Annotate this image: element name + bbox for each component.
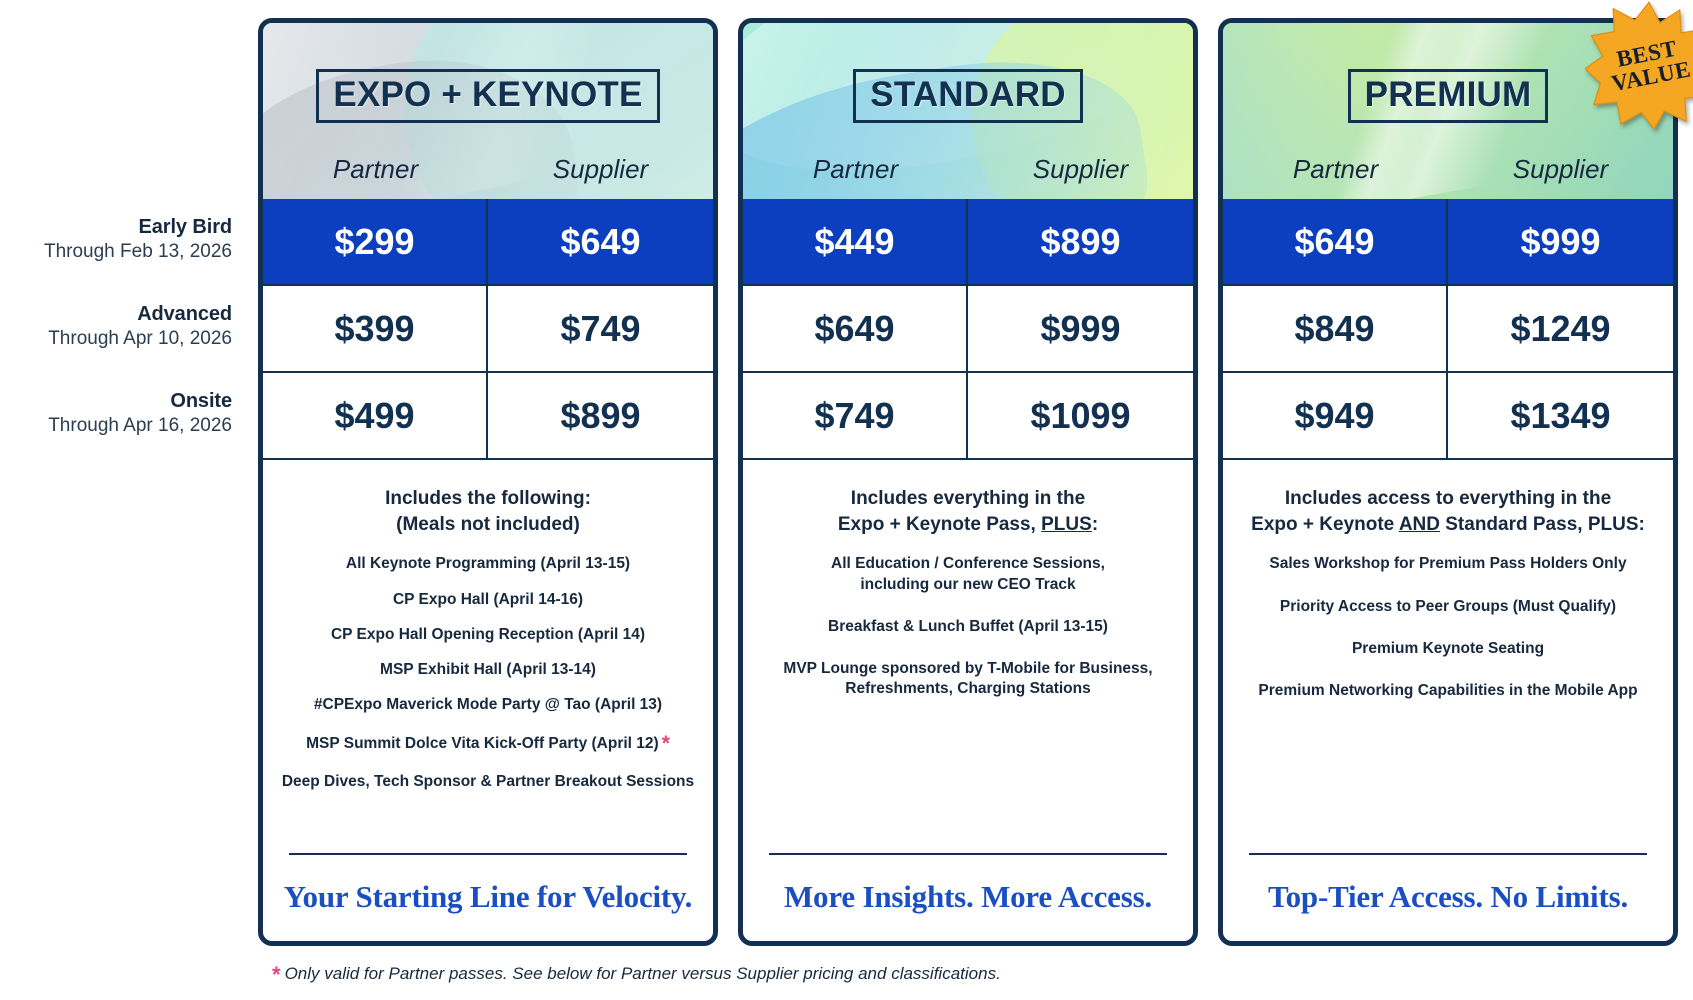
features-intro-pre: Expo + Keynote [1251,514,1399,535]
price-row-advanced: $399 $749 [263,286,713,373]
price-early-partner: $649 [1223,199,1448,284]
feature-item-starred: MSP Summit Dolce Vita Kick-Off Party (Ap… [281,730,695,757]
tier-title: EXPO + KEYNOTE [316,69,659,123]
feature-item: CP Expo Hall (April 14-16) [281,590,695,610]
feature-text: Priority Access to Peer Groups (Must Qua… [1280,598,1616,615]
feature-text: Deep Dives, Tech Sponsor & Partner Break… [282,773,694,790]
feature-item: Premium Keynote Seating [1241,639,1655,659]
price-row-advanced: $849 $1249 [1223,286,1673,373]
feature-text: All Keynote Programming (April 13-15) [346,555,630,572]
price-onsite-supplier: $1349 [1448,373,1673,458]
price-row-advanced: $649 $999 [743,286,1193,373]
price-advanced-supplier: $999 [968,286,1193,371]
feature-text: Sales Workshop for Premium Pass Holders … [1269,555,1626,572]
row-label-sub: Through Feb 13, 2026 [44,240,232,265]
row-label-name: Early Bird [139,215,232,240]
audience-partner-label: Partner [1223,154,1448,185]
feature-text: Premium Networking Capabilities in the M… [1258,682,1637,699]
audience-partner-label: Partner [743,154,968,185]
row-label-sub: Through Apr 10, 2026 [48,327,232,352]
feature-text: MSP Summit Dolce Vita Kick-Off Party (Ap… [306,735,659,752]
feature-item: Deep Dives, Tech Sponsor & Partner Break… [281,772,695,792]
row-label-name: Advanced [137,302,232,327]
card-tagline: Top-Tier Access. No Limits. [1241,855,1655,921]
pricing-card-expo-keynote[interactable]: EXPO + KEYNOTE Partner Supplier $299 $64… [258,18,718,946]
body-spacer [761,721,1175,853]
feature-item: Priority Access to Peer Groups (Must Qua… [1241,597,1655,617]
card-body-expo-keynote: Includes the following: (Meals not inclu… [263,460,713,941]
row-label-column: Early Bird Through Feb 13, 2026 Advanced… [0,196,250,457]
features-intro: Includes everything in the Expo + Keynot… [761,486,1175,538]
audience-header-row: Partner Supplier [743,154,1193,185]
features-intro-line2: (Meals not included) [396,514,580,535]
feature-item: MSP Exhibit Hall (April 13-14) [281,660,695,680]
features-intro-post: : [1092,514,1098,535]
body-spacer [281,808,695,853]
pricing-table-page: Early Bird Through Feb 13, 2026 Advanced… [0,0,1693,1000]
card-tagline: Your Starting Line for Velocity. [281,855,695,921]
price-onsite-partner: $949 [1223,373,1448,458]
price-early-partner: $299 [263,199,488,284]
feature-text: CP Expo Hall (April 14-16) [393,591,583,608]
price-onsite-partner: $749 [743,373,968,458]
feature-list: All Keynote Programming (April 13-15) CP… [281,554,695,807]
feature-item: Premium Networking Capabilities in the M… [1241,681,1655,701]
price-advanced-partner: $849 [1223,286,1448,371]
feature-item: All Education / Conference Sessions,incl… [761,554,1175,594]
price-advanced-supplier: $749 [488,286,713,371]
audience-supplier-label: Supplier [488,154,713,185]
feature-text: Breakfast & Lunch Buffet (April 13-15) [828,618,1108,635]
row-label-name: Onsite [170,389,232,414]
price-advanced-partner: $399 [263,286,488,371]
price-early-supplier: $999 [1448,199,1673,284]
price-onsite-supplier: $1099 [968,373,1193,458]
pricing-card-standard[interactable]: STANDARD Partner Supplier $449 $899 $649… [738,18,1198,946]
card-tagline: More Insights. More Access. [761,855,1175,921]
feature-list: Sales Workshop for Premium Pass Holders … [1241,554,1655,723]
best-value-starburst-icon: BEST VALUE [1585,1,1693,129]
features-intro-underlined: AND [1399,514,1440,535]
asterisk-marker: * [662,732,670,755]
pricing-card-premium[interactable]: PREMIUM Partner Supplier $649 $999 $849 … [1218,18,1678,946]
features-intro-underlined: PLUS [1041,514,1092,535]
features-intro-line1: Includes the following: [385,488,591,509]
starburst-shape [1585,2,1693,129]
feature-item: Breakfast & Lunch Buffet (April 13-15) [761,617,1175,637]
feature-text: Premium Keynote Seating [1352,640,1544,657]
card-body-standard: Includes everything in the Expo + Keynot… [743,460,1193,941]
row-label-onsite: Onsite Through Apr 16, 2026 [0,370,250,457]
price-early-supplier: $649 [488,199,713,284]
body-spacer [1241,723,1655,853]
feature-item: Sales Workshop for Premium Pass Holders … [1241,554,1655,574]
tier-title: PREMIUM [1348,69,1549,123]
pricing-card-row: EXPO + KEYNOTE Partner Supplier $299 $64… [258,18,1678,946]
feature-item: CP Expo Hall Opening Reception (April 14… [281,625,695,645]
feature-list: All Education / Conference Sessions,incl… [761,554,1175,721]
price-row-early-bird: $649 $999 [1223,199,1673,286]
features-intro-line1: Includes everything in the [851,488,1085,509]
price-early-supplier: $899 [968,199,1193,284]
row-label-advanced: Advanced Through Apr 10, 2026 [0,283,250,370]
card-header-expo-keynote: EXPO + KEYNOTE Partner Supplier [263,23,713,199]
audience-header-row: Partner Supplier [263,154,713,185]
footnote-asterisk: * [272,962,281,987]
price-advanced-partner: $649 [743,286,968,371]
feature-item: All Keynote Programming (April 13-15) [281,554,695,574]
price-early-partner: $449 [743,199,968,284]
row-label-early-bird: Early Bird Through Feb 13, 2026 [0,196,250,283]
tier-title-wrap: EXPO + KEYNOTE [263,69,713,123]
feature-text: All Education / Conference Sessions,incl… [831,555,1105,592]
price-row-onsite: $949 $1349 [1223,373,1673,460]
tier-title: STANDARD [853,69,1082,123]
features-intro: Includes access to everything in the Exp… [1241,486,1655,538]
card-body-premium: Includes access to everything in the Exp… [1223,460,1673,941]
feature-item: MVP Lounge sponsored by T-Mobile for Bus… [761,659,1175,699]
feature-text: #CPExpo Maverick Mode Party @ Tao (April… [314,696,662,713]
features-intro: Includes the following: (Meals not inclu… [281,486,695,538]
row-label-sub: Through Apr 16, 2026 [48,414,232,439]
price-row-early-bird: $449 $899 [743,199,1193,286]
tier-title-wrap: STANDARD [743,69,1193,123]
card-header-standard: STANDARD Partner Supplier [743,23,1193,199]
audience-supplier-label: Supplier [1448,154,1673,185]
feature-text: CP Expo Hall Opening Reception (April 14… [331,626,645,643]
price-advanced-supplier: $1249 [1448,286,1673,371]
feature-text: MVP Lounge sponsored by T-Mobile for Bus… [783,660,1152,697]
price-onsite-partner: $499 [263,373,488,458]
price-row-onsite: $749 $1099 [743,373,1193,460]
price-onsite-supplier: $899 [488,373,713,458]
feature-text: MSP Exhibit Hall (April 13-14) [380,661,596,678]
feature-item: #CPExpo Maverick Mode Party @ Tao (April… [281,695,695,715]
features-intro-line1: Includes access to everything in the [1285,488,1611,509]
price-row-early-bird: $299 $649 [263,199,713,286]
price-row-onsite: $499 $899 [263,373,713,460]
audience-partner-label: Partner [263,154,488,185]
features-intro-pre: Expo + Keynote Pass, [838,514,1041,535]
audience-supplier-label: Supplier [968,154,1193,185]
audience-header-row: Partner Supplier [1223,154,1673,185]
footnote: *Only valid for Partner passes. See belo… [272,962,1001,988]
footnote-text: Only valid for Partner passes. See below… [285,964,1001,983]
features-intro-post: Standard Pass, PLUS: [1440,514,1645,535]
